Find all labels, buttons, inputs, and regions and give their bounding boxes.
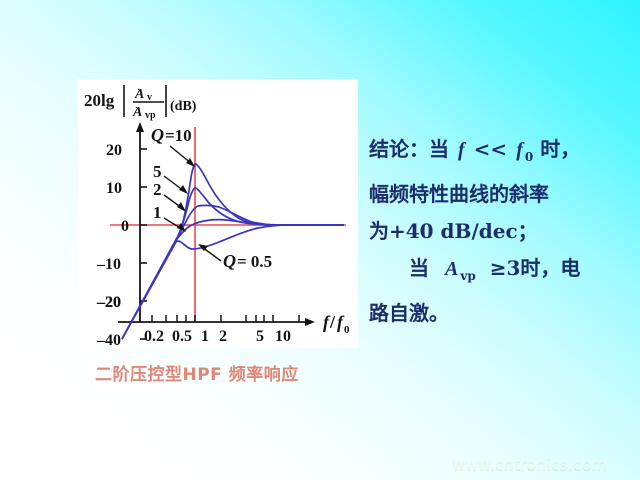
symbol-f0-subscript: 0 bbox=[525, 150, 533, 164]
y-axis-label: 20lg A . v A . vp (dB) bbox=[84, 81, 197, 121]
operator-much-less: << bbox=[474, 137, 508, 161]
chart-caption: 二阶压控型HPF 频率响应 bbox=[95, 360, 299, 385]
svg-text:/: / bbox=[329, 312, 336, 332]
svg-text:20lg: 20lg bbox=[84, 91, 115, 110]
svg-text:20: 20 bbox=[106, 142, 122, 159]
x-axis: 0.2 0.5 1 2 5 10 f / f 0 bbox=[118, 312, 350, 345]
svg-text:0.5: 0.5 bbox=[172, 328, 192, 345]
site-watermark: www.cntronics.com bbox=[452, 455, 607, 474]
x-axis-label: f / f 0 bbox=[323, 312, 350, 336]
conclusion-line-3: 为+40 dB/dec； bbox=[369, 213, 631, 250]
frequency-response-chart: 20lg A . v A . vp (dB) bbox=[78, 79, 358, 348]
annotation-q05: Q = 0.5 bbox=[198, 244, 272, 271]
svg-text:10: 10 bbox=[106, 180, 122, 197]
svg-text:10: 10 bbox=[275, 328, 291, 345]
chart-svg: 20lg A . v A . vp (dB) bbox=[78, 79, 358, 348]
conclusion-line-2: 幅频特性曲线的斜率 bbox=[369, 176, 631, 213]
conclusion-line1-lead: 结论：当 bbox=[369, 137, 449, 161]
conclusion-line-5: 路自激。 bbox=[369, 295, 631, 332]
svg-text:5: 5 bbox=[256, 328, 264, 345]
annotation-q10: Q =10 bbox=[151, 125, 195, 167]
svg-text:Q: Q bbox=[151, 125, 164, 145]
svg-text:0: 0 bbox=[344, 324, 350, 336]
conclusion-line4-lead: 当 bbox=[409, 256, 429, 280]
svg-text:1: 1 bbox=[153, 203, 162, 222]
conclusion-line-1: 结论：当f<<f0时， bbox=[369, 131, 631, 176]
svg-text:(dB): (dB) bbox=[170, 99, 197, 114]
symbol-Avp: A bbox=[443, 258, 460, 280]
svg-text:5: 5 bbox=[153, 162, 162, 181]
svg-text:0.2: 0.2 bbox=[144, 328, 164, 345]
svg-text:Q: Q bbox=[223, 251, 236, 271]
svg-text:1: 1 bbox=[201, 328, 209, 345]
symbol-f: f bbox=[456, 139, 467, 161]
conclusion-line-4: 当Avp≥3时，电 bbox=[369, 250, 631, 295]
svg-text:= 0.5: = 0.5 bbox=[237, 252, 272, 271]
svg-text:0: 0 bbox=[121, 218, 129, 235]
slide-canvas: 20lg A . v A . vp (dB) bbox=[0, 0, 640, 480]
svg-text:=10: =10 bbox=[165, 126, 192, 145]
conclusion-line1-tail: 时， bbox=[540, 137, 580, 161]
conclusion-text-block: 结论：当f<<f0时， 幅频特性曲线的斜率 为+40 dB/dec； 当Avp≥… bbox=[369, 131, 631, 332]
svg-text:vp: vp bbox=[145, 110, 156, 121]
svg-text:.: . bbox=[135, 99, 138, 111]
svg-text:–40: –40 bbox=[96, 332, 121, 348]
svg-text:2: 2 bbox=[219, 328, 227, 345]
conclusion-line4-tail: ≥3时，电 bbox=[490, 256, 581, 280]
svg-text:2: 2 bbox=[153, 180, 162, 199]
svg-text:–10: –10 bbox=[96, 256, 121, 273]
svg-text:.: . bbox=[137, 81, 140, 93]
symbol-f0: f bbox=[514, 139, 525, 161]
y-tick-minus20: –20 bbox=[96, 294, 121, 311]
symbol-Avp-subscript: vp bbox=[460, 269, 475, 283]
